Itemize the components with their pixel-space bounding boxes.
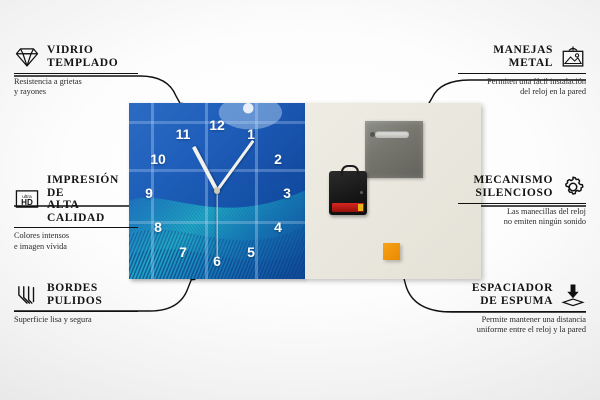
gear-icon (560, 174, 586, 200)
clock-numeral-2: 2 (274, 152, 282, 166)
feature-divider (458, 203, 586, 204)
feature-title: ESPACIADOR DE ESPUMA (472, 282, 553, 307)
clock-front-face: 12 1 2 3 4 5 6 7 8 9 10 11 (129, 103, 305, 279)
feature-divider (442, 311, 586, 312)
artwork-gridline (129, 169, 305, 172)
movement-battery (332, 203, 364, 212)
movement-hanging-loop (341, 165, 359, 176)
product-image: 12 1 2 3 4 5 6 7 8 9 10 11 (129, 103, 481, 279)
clock-numeral-11: 11 (176, 127, 191, 141)
feature-vidrio-templado: VIDRIO TEMPLADO Resistencia a grietas y … (14, 44, 138, 98)
feature-divider (14, 311, 138, 312)
feature-divider (14, 73, 138, 74)
feature-desc: Permite mantener una distancia uniforme … (442, 315, 586, 336)
feature-impresion-alta-calidad: ultra HD IMPRESIÓN DE ALTA CALIDAD Color… (14, 174, 138, 252)
feature-desc: Las manecillas del reloj no emiten ningú… (458, 207, 586, 228)
clock-numeral-1: 1 (247, 127, 255, 141)
foam-spacer-square (383, 243, 400, 260)
feature-title: BORDES PULIDOS (47, 282, 102, 307)
clock-back-panel (305, 103, 481, 279)
clock-numeral-7: 7 (179, 245, 187, 259)
clock-hand-pivot (214, 188, 220, 194)
artwork-gridline (205, 103, 208, 279)
feature-desc: Permiten una fácil instalación del reloj… (458, 77, 586, 98)
feature-manejas-metal: MANEJAS METAL Permiten una fácil instala… (458, 44, 586, 98)
artwork-gridline (255, 103, 258, 279)
feature-desc: Resistencia a grietas y rayones (14, 77, 138, 98)
ultra-hd-icon: ultra HD (14, 186, 40, 212)
feature-bordes-pulidos: BORDES PULIDOS Superficie lisa y segura (14, 282, 138, 325)
feature-title: MECANISMO SILENCIOSO (473, 174, 553, 199)
infographic-canvas: 12 1 2 3 4 5 6 7 8 9 10 11 (0, 0, 600, 400)
clock-numeral-4: 4 (274, 220, 282, 234)
movement-detail-dot (360, 191, 363, 194)
feature-divider (14, 227, 138, 228)
clock-second-hand (216, 191, 217, 257)
feature-mecanismo-silencioso: MECANISMO SILENCIOSO Las manecillas del … (458, 174, 586, 228)
clock-numeral-5: 5 (247, 245, 255, 259)
feature-title: VIDRIO TEMPLADO (47, 44, 118, 69)
feature-desc: Colores intensos e imagen vívida (14, 231, 138, 252)
feature-title: IMPRESIÓN DE ALTA CALIDAD (47, 174, 138, 224)
clock-numeral-8: 8 (154, 220, 162, 234)
feature-desc: Superficie lisa y segura (14, 315, 138, 325)
clock-numeral-3: 3 (283, 186, 291, 200)
metal-hanger-plate (365, 121, 423, 178)
quartz-movement-box (329, 171, 367, 215)
ultra-hd-icon-bottom-text: HD (21, 198, 33, 207)
clock-numeral-9: 9 (145, 186, 153, 200)
hanger-keyhole-slot (375, 131, 409, 138)
wall-frame-icon (560, 44, 586, 70)
feature-title: MANEJAS METAL (493, 44, 553, 69)
polished-edges-icon (14, 282, 40, 308)
foam-spacer-icon (560, 282, 586, 308)
feature-espaciador-espuma: ESPACIADOR DE ESPUMA Permite mantener un… (442, 282, 586, 336)
feature-divider (458, 73, 586, 74)
clock-numeral-10: 10 (150, 152, 166, 166)
clock-numeral-12: 12 (209, 118, 225, 132)
diamond-icon (14, 44, 40, 70)
